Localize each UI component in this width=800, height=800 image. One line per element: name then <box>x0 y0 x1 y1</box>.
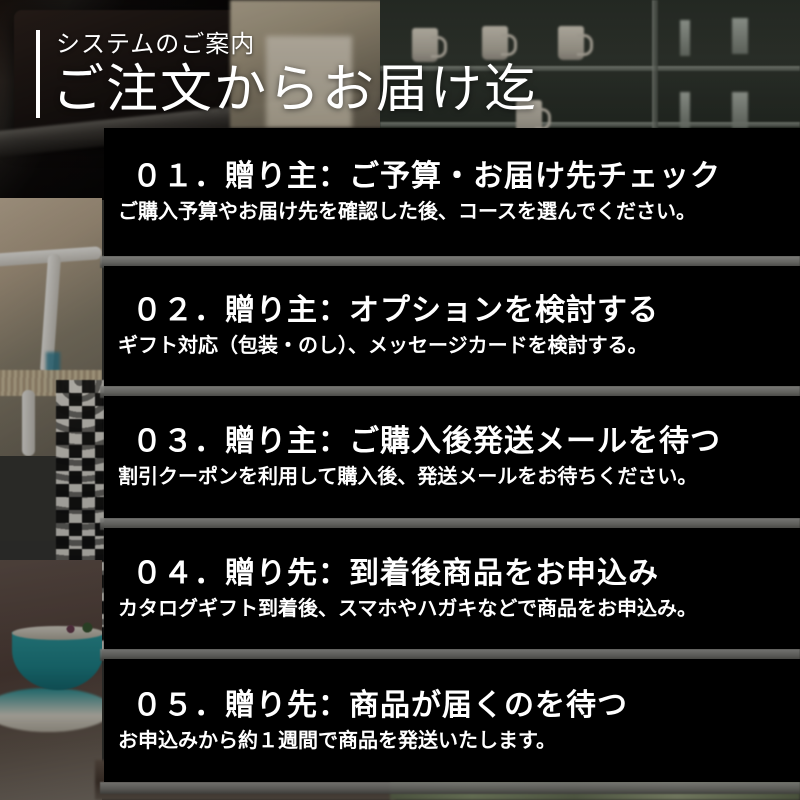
step-title: ０５．贈り先：商品が届くのを待つ <box>132 687 800 725</box>
step-title: ０２．贈り主：オプションを検討する <box>132 292 800 330</box>
promo-banner: ０１．贈り主：ご予算・お届け先チェック ご購入予算やお届け先を確認した後、コース… <box>0 0 800 800</box>
step-item-01: ０１．贈り主：ご予算・お届け先チェック ご購入予算やお届け先を確認した後、コース… <box>104 128 800 256</box>
step-description: ギフト対応（包装・のし）、メッセージカードを検討する。 <box>118 332 800 360</box>
header-accent-bar <box>36 30 40 118</box>
step-item-02: ０２．贈り主：オプションを検討する ギフト対応（包装・のし）、メッセージカードを… <box>104 266 800 386</box>
step-item-04: ０４．贈り先：到着後商品をお申込み カタログギフト到着後、スマホやハガキなどで商… <box>104 528 800 649</box>
step-description: お申込みから約１週間で商品を発送いたします。 <box>118 727 800 755</box>
step-item-05: ０５．贈り先：商品が届くのを待つ お申込みから約１週間で商品を発送いたします。 <box>104 659 800 782</box>
step-description: 割引クーポンを利用して購入後、発送メールをお待ちください。 <box>118 463 800 491</box>
step-description: カタログギフト到着後、スマホやハガキなどで商品をお申込み。 <box>118 595 800 623</box>
step-title: ０３．贈り主：ご購入後発送メールを待つ <box>132 423 800 461</box>
banner-header: システムのご案内 ご注文からお届け迄 <box>0 0 800 124</box>
step-item-03: ０３．贈り主：ご購入後発送メールを待つ 割引クーポンを利用して購入後、発送メール… <box>104 396 800 518</box>
step-description: ご購入予算やお届け先を確認した後、コースを選んでください。 <box>118 198 800 226</box>
header-kicker: システムのご案内 <box>56 30 255 60</box>
page-title: ご注文からお届け迄 <box>52 60 538 120</box>
step-title: ０４．贈り先：到着後商品をお申込み <box>132 555 800 593</box>
step-title: ０１．贈り主：ご予算・お届け先チェック <box>132 158 800 196</box>
